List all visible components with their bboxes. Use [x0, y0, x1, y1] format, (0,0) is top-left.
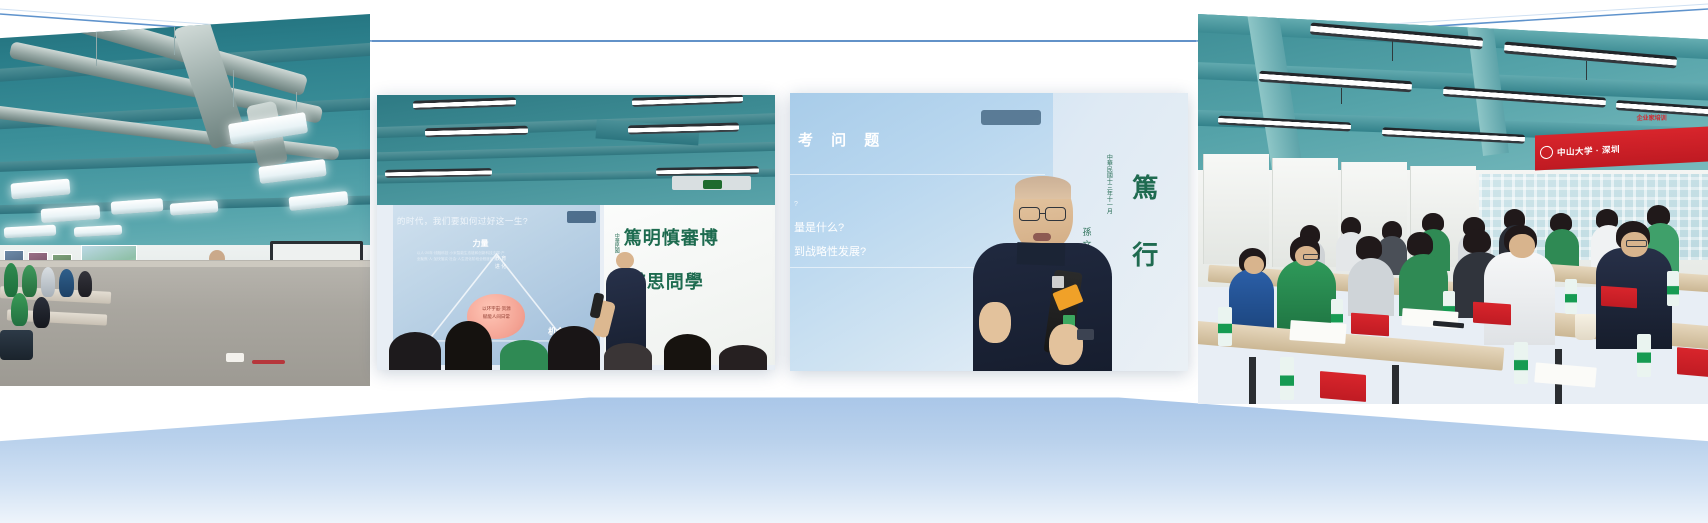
gallery-photo-1[interactable]: [0, 14, 370, 386]
slide-bullet-3: 到战略性发展?: [794, 243, 866, 259]
water-bottle: [1514, 342, 1528, 385]
water-bottle: [1637, 334, 1651, 377]
glasses-right: [1045, 207, 1066, 221]
calligraphy-line-1: 篤: [1132, 168, 1158, 205]
slide-bullet-1: ?: [794, 201, 798, 208]
gallery-photo-2[interactable]: 教 育进 化 以环宇宙·资源赋能人间日常 的时代，我们要如何过好这一生? 力量 …: [377, 95, 775, 370]
glasses-left: [1019, 207, 1040, 221]
coffee-cup: [1575, 314, 1595, 339]
calligraphy-line-1: 篤明慎審博: [624, 224, 719, 250]
name-card: [1473, 301, 1511, 325]
banner-subtext: 企业家培训: [1637, 113, 1667, 122]
slide-logo: [981, 110, 1041, 125]
photo-1-image: [0, 14, 370, 386]
water-bottle: [1218, 307, 1231, 346]
speaker-hand-left: [979, 302, 1011, 344]
water-bottle: [1280, 357, 1294, 400]
photo-2-image: 教 育进 化 以环宇宙·资源赋能人间日常 的时代，我们要如何过好这一生? 力量 …: [377, 95, 775, 370]
calligraphy-vertical-date: 中華民國十三年十一月: [1104, 154, 1113, 249]
calligraphy-line-2: 行: [1132, 235, 1158, 272]
slide-label-power: 力量: [473, 238, 489, 249]
university-seal-icon: [1540, 146, 1553, 160]
name-card: [1601, 286, 1637, 308]
notebook-paper: [1534, 362, 1597, 387]
banner-text: 中山大学 · 深圳: [1557, 143, 1620, 158]
water-bottle: [1667, 271, 1679, 306]
name-card: [1351, 313, 1389, 337]
photo-4-image: 中山大学 · 深圳 企业家培训: [1198, 14, 1708, 404]
notebook-paper: [1289, 320, 1346, 343]
water-bottle: [1565, 279, 1577, 314]
name-card: [1677, 348, 1708, 379]
window-blind-1: [1203, 154, 1269, 263]
photo-gallery-banner: 教 育进 化 以环宇宙·资源赋能人间日常 的时代，我们要如何过好这一生? 力量 …: [0, 0, 1708, 523]
bottom-gradient-panel: [0, 395, 1708, 523]
gallery-photo-4[interactable]: 中山大学 · 深圳 企业家培训: [1198, 14, 1708, 404]
photo-3-image: 考 问 题 ? 量是什么? 到战略性发展? 篤 行 中華民國十三年十一月 孫文: [790, 93, 1188, 371]
slide-bullet-2: 量是什么?: [794, 219, 844, 235]
slide-title: 考 问 题: [798, 129, 886, 150]
gallery-photo-3[interactable]: 考 问 题 ? 量是什么? 到战略性发展? 篤 行 中華民國十三年十一月 孫文: [790, 93, 1188, 371]
name-card: [1320, 371, 1366, 402]
slide-title: 的时代，我们要如何过好这一生?: [397, 215, 596, 227]
